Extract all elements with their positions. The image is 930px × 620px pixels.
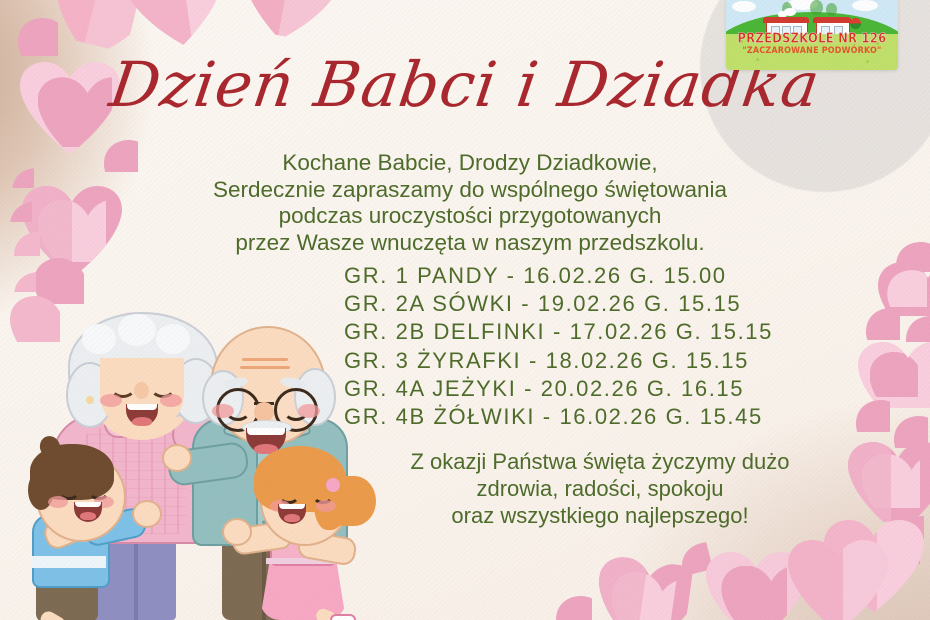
heart-decoration <box>906 316 930 342</box>
roof-icon <box>763 17 809 23</box>
grass-dot <box>866 60 869 63</box>
schedule-row: GR. 4B ŻÓŁWIKI - 16.02.26 G. 15.45 <box>344 403 773 431</box>
heart-decoration <box>12 168 34 188</box>
grandmother-blush <box>100 394 122 407</box>
grandmother-nose <box>134 382 149 399</box>
intro-line-2: Serdecznie zapraszamy do wspólnego święt… <box>150 177 790 204</box>
heart-decoration <box>10 202 32 222</box>
tree-icon <box>826 3 837 16</box>
grandfather-hand <box>162 444 192 472</box>
closing-line-1: Z okazji Państwa święta życzymy dużo <box>360 448 840 475</box>
intro-line-1: Kochane Babcie, Drodzy Dziadkowie, <box>150 150 790 177</box>
intro-line-3: podczas uroczystości przygotowanych <box>150 203 790 230</box>
schedule-row: GR. 4A JEŻYKI - 20.02.26 G. 16.15 <box>344 375 773 403</box>
grandfather-teeth <box>247 428 285 435</box>
heart-decoration <box>866 308 900 340</box>
girl-teeth <box>279 504 305 509</box>
heart-decoration <box>231 0 341 44</box>
cloud-icon <box>852 0 878 11</box>
intro-line-4: przez Wasze wnuczęta w naszym przedszkol… <box>150 230 790 257</box>
grandfather-forehead-wrinkle <box>240 366 290 369</box>
logo-subtitle: "ZACZAROWANE PODWÓRKO" <box>726 46 898 55</box>
grandmother-earring <box>86 396 94 404</box>
cloud-icon <box>732 1 756 12</box>
grandfather-blush <box>212 404 234 418</box>
grandfather-forehead-wrinkle <box>242 358 288 361</box>
grandmother-teeth <box>127 404 157 410</box>
schedule-row: GR. 2B DELFINKI - 17.02.26 G. 15.15 <box>344 318 773 346</box>
grandfather-nose <box>254 402 274 422</box>
boy-tongue <box>80 512 96 520</box>
heart-decoration <box>788 540 898 620</box>
girl-tongue <box>284 514 300 522</box>
grandfather-blush <box>298 404 320 418</box>
closing-line-3: oraz wszystkiego najlepszego! <box>360 502 840 529</box>
schedule-list: GR. 1 PANDY - 16.02.26 G. 15.00 GR. 2A S… <box>344 262 773 431</box>
heart-decoration <box>44 0 144 53</box>
schedule-row: GR. 3 ŻYRAFKI - 18.02.26 G. 15.15 <box>344 347 773 375</box>
girl-blush <box>316 500 336 512</box>
heart-decoration <box>556 596 592 620</box>
schedule-row: GR. 1 PANDY - 16.02.26 G. 15.00 <box>344 262 773 290</box>
grandmother-hair-curl <box>82 324 116 354</box>
boy-teeth <box>75 502 101 507</box>
boy-shirt-stripe <box>32 556 106 568</box>
grass-dot <box>756 58 759 61</box>
heart-decoration <box>14 272 36 292</box>
heart-decoration <box>14 232 40 256</box>
heart-decoration <box>104 140 138 172</box>
heart-decoration <box>858 342 930 408</box>
chimney-smoke-icon <box>784 8 796 16</box>
heart-decoration <box>848 442 930 522</box>
boy-hand <box>132 500 162 528</box>
grandmother-tongue <box>132 417 152 426</box>
closing-paragraph: Z okazji Państwa święta życzymy dużo zdr… <box>360 448 840 529</box>
flag-icon <box>850 18 861 29</box>
girl-hand <box>222 518 252 546</box>
schedule-row: GR. 2A SÓWKI - 19.02.26 G. 15.15 <box>344 290 773 318</box>
girl-shoe <box>330 614 356 620</box>
grandmother-hair-curl <box>156 324 190 354</box>
logo-name: PRZEDSZKOLE NR 126 <box>726 30 898 46</box>
grandmother-blush <box>160 394 182 407</box>
heart-decoration <box>706 552 802 620</box>
heart-decoration <box>856 400 890 432</box>
tree-icon <box>810 0 823 15</box>
boy-blush <box>48 496 68 508</box>
intro-paragraph: Kochane Babcie, Drodzy Dziadkowie, Serde… <box>150 150 790 256</box>
family-illustration <box>26 318 376 620</box>
closing-line-2: zdrowia, radości, spokoju <box>360 475 840 502</box>
heart-decoration <box>590 554 693 620</box>
grandmother-hair-curl <box>118 314 156 346</box>
kindergarten-logo: PRZEDSZKOLE NR 126 "ZACZAROWANE PODWÓRKO… <box>726 0 898 70</box>
roof-icon <box>813 17 851 23</box>
poster-canvas: Dzień Babci i Dziadka Kochane Babcie, Dr… <box>0 0 930 620</box>
